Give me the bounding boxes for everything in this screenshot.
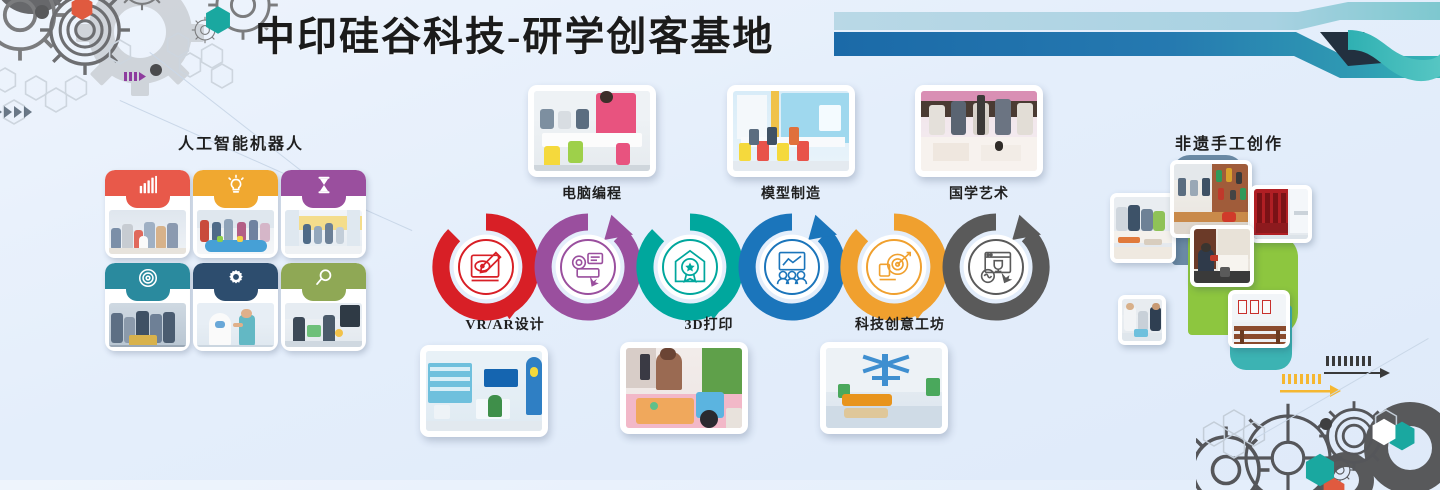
photo-card-model-making[interactable]: [727, 85, 855, 177]
ai-card-hourglass[interactable]: [281, 170, 366, 258]
ring-gear-screen[interactable]: [534, 213, 642, 321]
model-making-photo: [733, 91, 849, 171]
section-heading-ai: 人工智能机器人: [178, 130, 304, 154]
vr-experience-photo: [109, 303, 186, 347]
robot-demo-photo: [109, 210, 186, 254]
ring-team-chart[interactable]: [738, 213, 846, 321]
photo-card-3d-print-desk[interactable]: [620, 342, 748, 434]
ribbon-banner-decoration: [828, 0, 1440, 92]
ai-card-lightbulb[interactable]: [193, 170, 278, 258]
label-computer-programming: 电脑编程: [528, 183, 656, 203]
ai-card-grid: [105, 170, 366, 353]
card-tab: [281, 170, 366, 210]
label-3d-print: 3D打印: [644, 314, 774, 334]
chinese-art-photo: [921, 91, 1037, 171]
ring-3d-print[interactable]: [636, 213, 744, 321]
photo-card-vr-showroom[interactable]: [420, 345, 548, 437]
hourglass-icon: [313, 174, 335, 196]
gear-icon: [225, 267, 247, 289]
robot-child-photo: [197, 303, 274, 347]
card-tab: [193, 263, 278, 303]
poster-stage: 中印硅谷科技-研学创客基地 人工智能机器人: [0, 0, 1440, 480]
lightbulb-icon: [225, 174, 247, 196]
magnifier-icon: [313, 267, 335, 289]
corridor-exhibit-photo: [285, 210, 362, 254]
craft-photo-sewing-workshop[interactable]: [1190, 225, 1254, 287]
card-tab: [193, 170, 278, 210]
tech-model-photo: [826, 348, 942, 428]
vr-showroom-photo: [426, 351, 542, 431]
ring-tech-workshop[interactable]: [840, 213, 948, 321]
label-chinese-art: 国学艺术: [915, 183, 1043, 203]
computer-programming-photo: [534, 91, 650, 171]
label-tech-workshop: 科技创意工坊: [820, 314, 980, 334]
ai-card-target[interactable]: [105, 263, 190, 351]
photo-card-tech-model[interactable]: [820, 342, 948, 434]
card-tab: [105, 170, 190, 210]
card-tab: [105, 263, 190, 303]
photo-card-chinese-art[interactable]: [915, 85, 1043, 177]
craft-photo-instrument-rack[interactable]: [1250, 185, 1312, 243]
3d-print-desk-photo: [626, 348, 742, 428]
craft-photo-woodworking[interactable]: [1110, 193, 1176, 263]
ring-vr-ar-design[interactable]: [432, 213, 540, 321]
target-icon: [137, 267, 159, 289]
craft-photo-pottery-demo[interactable]: [1118, 295, 1166, 345]
bar-chart-icon: [137, 174, 159, 196]
page-title: 中印硅谷科技-研学创客基地: [255, 4, 774, 62]
craft-photo-calligraphy-hall[interactable]: [1228, 290, 1290, 348]
label-model-making: 模型制造: [727, 183, 855, 203]
card-tab: [281, 263, 366, 303]
label-vr-ar-design: VR/AR设计: [440, 314, 570, 334]
ai-card-bar-chart[interactable]: [105, 170, 190, 258]
ai-card-gear[interactable]: [193, 263, 278, 351]
section-heading-craft: 非遗手工创作: [1175, 130, 1283, 154]
craft-photo-cluster: [1110, 155, 1360, 370]
maker-lab-photo: [285, 303, 362, 347]
photo-card-computer-programming[interactable]: [528, 85, 656, 177]
ai-card-magnifier[interactable]: [281, 263, 366, 351]
ring-trophy-window[interactable]: [942, 213, 1050, 321]
classroom-activity-photo: [197, 210, 274, 254]
